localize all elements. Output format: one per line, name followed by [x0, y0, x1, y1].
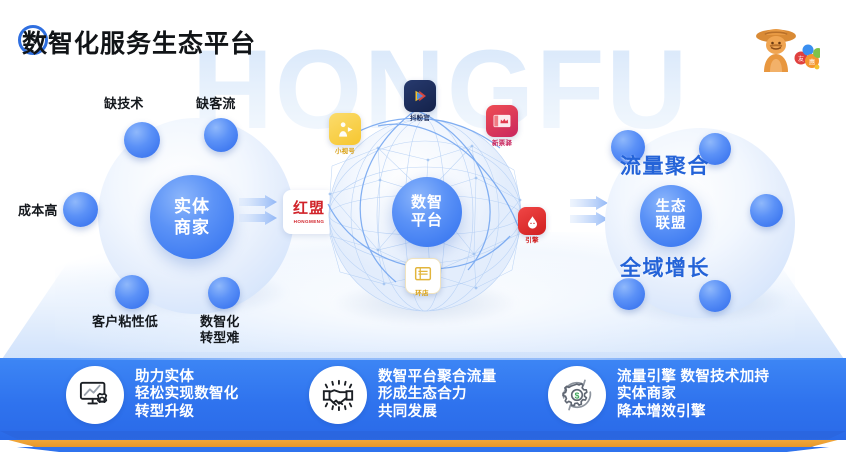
feature-2-line-1: 数智平台聚合流量 [378, 369, 496, 387]
right-core-line2: 联盟 [656, 216, 687, 233]
left-core-line1: 实体 [174, 196, 210, 217]
feature-text-1: 助力实体 轻松实现数智化 转型升级 [135, 369, 239, 422]
right-node-r [750, 194, 783, 227]
right-label-traffic-aggregation: 流量聚合 [620, 150, 710, 180]
feature-bar-highlight [0, 358, 846, 360]
feature-text-3: 流量引擎 数智技术加持 实体商家 降本增效引擎 [617, 369, 769, 422]
right-label-global-growth: 全域增长 [620, 252, 710, 282]
feature-3-line-3: 降本增效引擎 [617, 404, 769, 422]
feature-item-1[interactable]: 助力实体 轻松实现数智化 转型升级 [66, 366, 239, 424]
app-icon-xiaoshihao[interactable] [329, 113, 361, 145]
svg-text:友: 友 [798, 55, 804, 63]
feature-item-3[interactable]: $ 流量引擎 数智技术加持 实体商家 降本增效引擎 [548, 366, 769, 424]
feature-item-2[interactable]: 数智平台聚合流量 形成生态合力 共同发展 [309, 366, 496, 424]
gear-dollar-icon: $ [548, 366, 606, 424]
app-label-xiaoshihao: 小视号 [325, 145, 365, 155]
pain-label-cost: 成本高 [18, 203, 58, 219]
left-node-tech [124, 122, 160, 158]
center-core-platform: 数智 平台 [392, 177, 462, 247]
svg-text:惠: 惠 [809, 57, 816, 66]
left-node-stickiness [115, 275, 149, 309]
feature-1-line-1: 助力实体 [135, 369, 239, 387]
pain-label-tech: 缺技术 [104, 96, 144, 112]
feature-2-line-3: 共同发展 [378, 404, 496, 422]
right-node-bl [613, 278, 645, 310]
left-core-line2: 商家 [174, 217, 210, 238]
feature-3-line-1: 流量引擎 数智技术加持 [617, 369, 769, 387]
left-core-merchant: 实体 商家 [150, 175, 234, 259]
pain-label-traffic: 缺客流 [196, 96, 236, 112]
left-node-transform [208, 277, 240, 309]
pain-label-stickiness: 客户粘性低 [92, 314, 158, 330]
svg-text:$: $ [575, 390, 580, 400]
app-label-xinpiaoyi: 新票驿 [480, 137, 524, 147]
right-node-br [699, 280, 731, 312]
pain-label-transform-line2: 转型难 [200, 330, 240, 346]
feature-1-line-3: 转型升级 [135, 404, 239, 422]
page-title: 数智化服务生态平台 [22, 28, 256, 62]
left-node-cost [63, 192, 98, 227]
app-label-huandian: 环店 [402, 287, 442, 297]
feature-1-line-2: 轻松实现数智化 [135, 386, 239, 404]
center-core-line1: 数智 [411, 194, 443, 212]
app-icon-yinqing[interactable] [518, 207, 546, 235]
center-core-line2: 平台 [411, 212, 443, 230]
handshake-icon [309, 366, 367, 424]
app-icon-xinpiaoyi[interactable] [486, 105, 518, 137]
feature-bar-bottom-blue [0, 447, 846, 452]
pain-label-transform: 数智化 转型难 [200, 314, 240, 346]
farmer-mascot: 友 惠 [748, 22, 820, 78]
app-label-yinqing: 引擎 [512, 234, 552, 244]
app-label-doufenguan: 抖粉官 [400, 112, 440, 122]
right-core-line1: 生态 [656, 199, 687, 216]
right-core-alliance: 生态 联盟 [640, 185, 702, 247]
arrow-left-to-brand [239, 195, 283, 229]
feature-text-2: 数智平台聚合流量 形成生态合力 共同发展 [378, 369, 496, 422]
feature-2-line-2: 形成生态合力 [378, 386, 496, 404]
left-node-traffic [204, 118, 238, 152]
monitor-gear-icon [66, 366, 124, 424]
page-title-text: 数智化服务生态平台 [22, 28, 256, 60]
pain-label-transform-line1: 数智化 [200, 314, 240, 330]
app-icon-doufenguan[interactable] [404, 80, 436, 112]
infographic-canvas: HONGFU 数智化服务生态平台 实体 商家 缺技术 缺客流 成本高 客户粘性低… [0, 0, 846, 466]
feature-3-line-2: 实体商家 [617, 386, 769, 404]
